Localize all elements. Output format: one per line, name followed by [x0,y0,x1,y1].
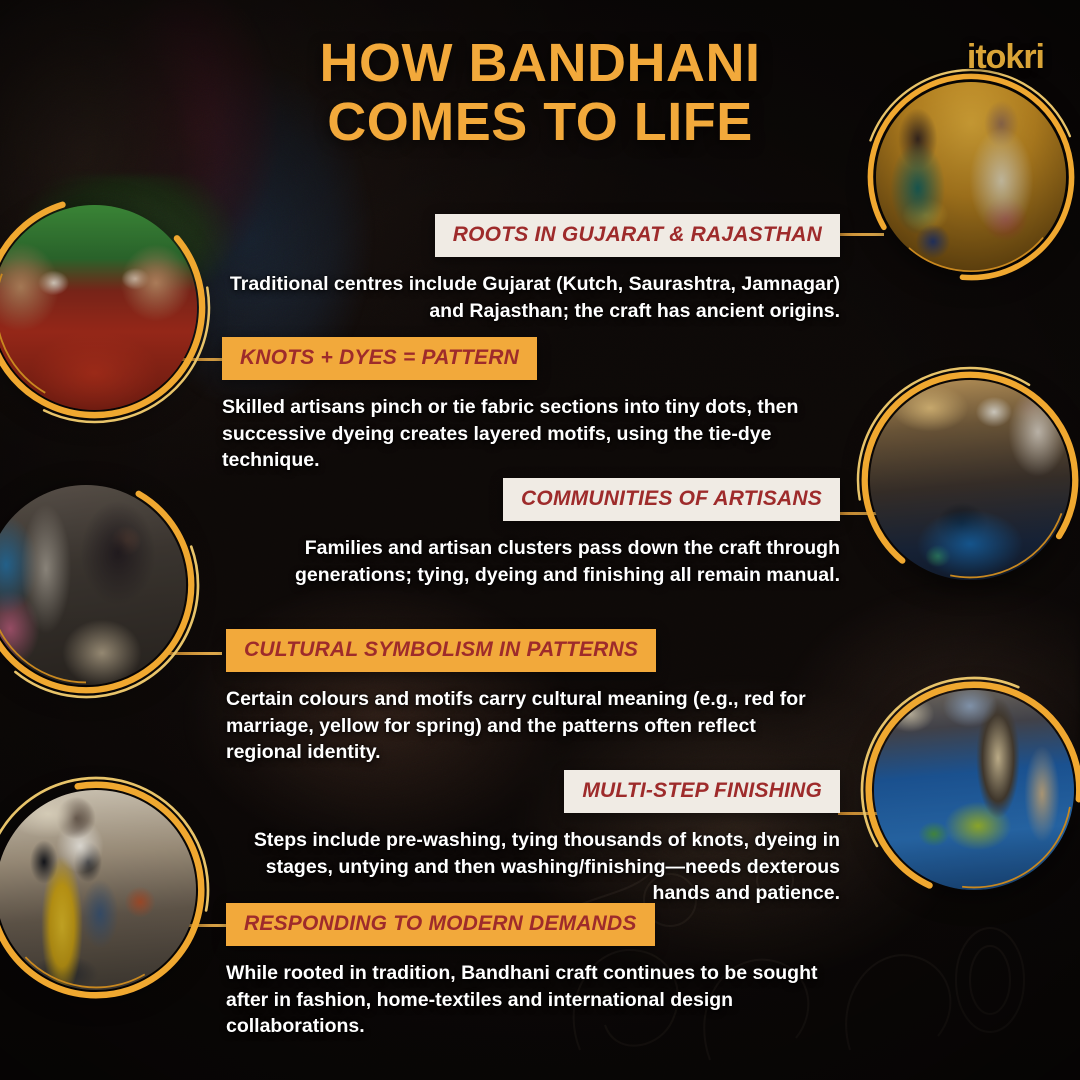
section-label-communities[interactable]: COMMUNITIES OF ARTISANS [503,478,840,521]
brand-logo-text: itokri [967,38,1044,76]
section-communities: COMMUNITIES OF ARTISANS Families and art… [222,478,840,588]
section-body-finishing: Steps include pre-washing, tying thousan… [222,827,840,907]
section-label-modern[interactable]: RESPONDING TO MODERN DEMANDS [226,903,655,946]
photo-dye-vat-blue-green [874,690,1074,890]
section-body-knots-dyes: Skilled artisans pinch or tie fabric sec… [222,394,822,474]
medallion-woman-tying-cream-cloth [0,485,186,685]
section-body-roots: Traditional centres include Gujarat (Kut… [222,271,840,324]
section-roots: ROOTS IN GUJARAT & RAJASTHAN Traditional… [222,214,840,324]
photo-dyer-blue-tub [870,380,1070,580]
section-label-finishing[interactable]: MULTI-STEP FINISHING [564,770,840,813]
section-finishing: MULTI-STEP FINISHING Steps include pre-w… [222,770,840,907]
section-label-roots[interactable]: ROOTS IN GUJARAT & RAJASTHAN [435,214,840,257]
medallion-dyer-blue-tub [870,380,1070,580]
photo-dyer-yellow-cloth [0,790,196,990]
section-body-modern: While rooted in tradition, Bandhani craf… [226,960,826,1040]
medallion-dye-vat-blue-green [874,690,1074,890]
page-title: HOW BANDHANI COMES TO LIFE [0,34,1080,152]
brand-logo[interactable]: itokri [967,38,1044,77]
section-label-symbolism[interactable]: CULTURAL SYMBOLISM IN PATTERNS [226,629,656,672]
section-body-communities: Families and artisan clusters pass down … [222,535,840,588]
section-knots-dyes: KNOTS + DYES = PATTERN Skilled artisans … [222,337,822,474]
title-line-2: COMES TO LIFE [0,93,1080,152]
medallion-dyer-yellow-cloth [0,790,196,990]
section-modern: RESPONDING TO MODERN DEMANDS While roote… [226,903,826,1040]
photo-hands-tying-red-fabric [0,205,197,410]
section-symbolism: CULTURAL SYMBOLISM IN PATTERNS Certain c… [226,629,826,766]
section-label-knots-dyes[interactable]: KNOTS + DYES = PATTERN [222,337,537,380]
section-body-symbolism: Certain colours and motifs carry cultura… [226,686,826,766]
title-line-1: HOW BANDHANI [320,33,761,93]
infographic-poster: HOW BANDHANI COMES TO LIFE itokri [0,0,1080,1080]
photo-woman-tying-cream-cloth [0,485,186,685]
medallion-hands-tying-red-fabric [0,205,197,410]
poster-header: HOW BANDHANI COMES TO LIFE [0,34,1080,152]
